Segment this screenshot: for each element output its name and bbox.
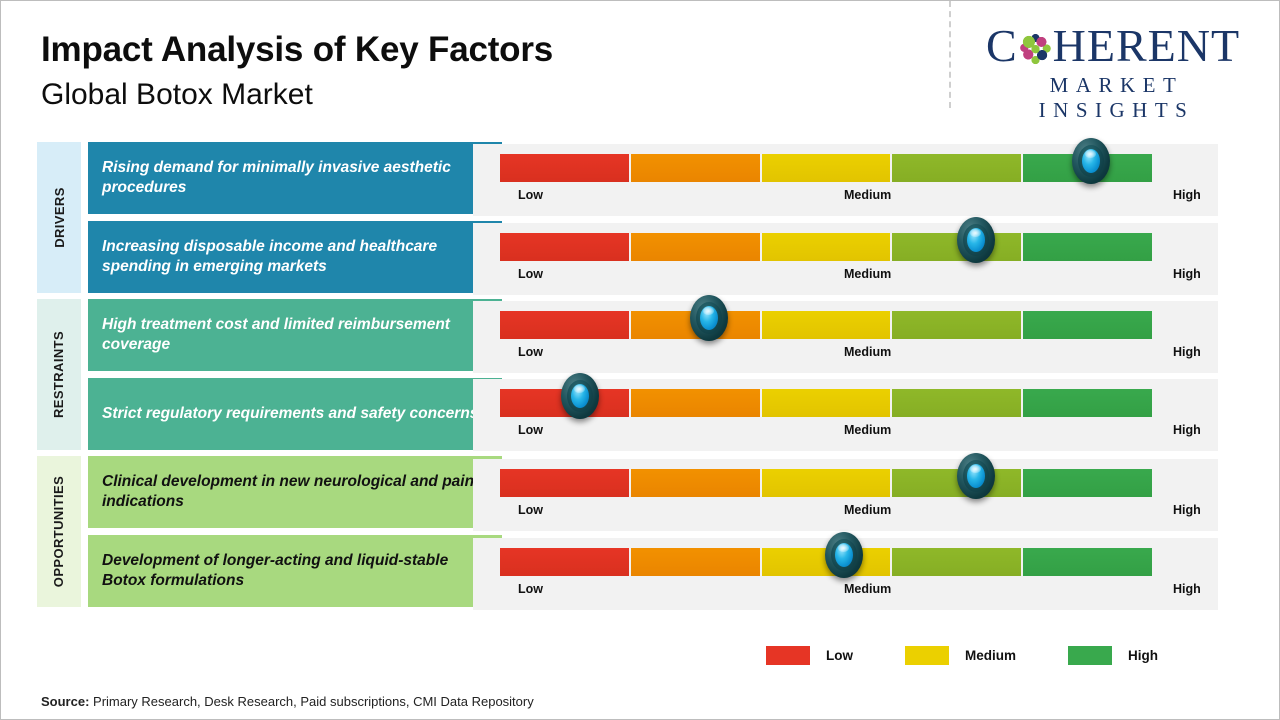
legend-swatch-medium <box>905 646 949 665</box>
category-panel-restraints: RESTRAINTS <box>37 299 81 450</box>
gauge-segment-medium <box>762 469 891 497</box>
scale-label-low: Low <box>518 503 543 517</box>
marker-gloss <box>703 307 714 315</box>
scale-label-high: High <box>1173 503 1201 517</box>
scale-label-high: High <box>1173 188 1201 202</box>
gauge-segment-high <box>1023 389 1152 417</box>
gauge-scale-labels: Low Medium High <box>500 423 1220 443</box>
gauge-scale-labels: Low Medium High <box>500 345 1220 365</box>
legend-item-low: Low <box>766 646 853 665</box>
gauge-segment-low-mid <box>631 548 760 576</box>
company-logo: C HERENT MARKET INSIGHTS <box>963 23 1263 123</box>
category-panel-drivers: DRIVERS <box>37 142 81 293</box>
gauge-segment-low-mid <box>631 233 760 261</box>
title-block: Impact Analysis of Key Factors Global Bo… <box>41 31 553 112</box>
gauge-segment-low <box>500 233 629 261</box>
scale-label-medium: Medium <box>844 188 891 202</box>
legend-swatch-low <box>766 646 810 665</box>
source-note: Source: Primary Research, Desk Research,… <box>41 694 534 709</box>
gauge-segment-mid-high <box>892 311 1021 339</box>
legend-label-high: High <box>1128 648 1158 663</box>
factor-statement: High treatment cost and limited reimburs… <box>88 299 502 371</box>
gauge-segment-low <box>500 311 629 339</box>
factor-statement: Increasing disposable income and healthc… <box>88 221 502 293</box>
marker-gloss <box>838 544 849 552</box>
gauge-segment-high <box>1023 311 1152 339</box>
gauge-segment-mid-high <box>892 548 1021 576</box>
scale-label-low: Low <box>518 582 543 596</box>
gauge-scale-labels: Low Medium High <box>500 267 1220 287</box>
gauge-segment-high <box>1023 233 1152 261</box>
gauge-segment-medium <box>762 154 891 182</box>
category-label-text: OPPORTUNITIES <box>52 476 67 587</box>
factor-statement: Rising demand for minimally invasive aes… <box>88 142 502 214</box>
scale-label-medium: Medium <box>844 423 891 437</box>
scale-label-low: Low <box>518 423 543 437</box>
header-dashed-divider <box>949 1 951 108</box>
legend-swatch-high <box>1068 646 1112 665</box>
scale-label-low: Low <box>518 267 543 281</box>
gauge-scale-labels: Low Medium High <box>500 582 1220 602</box>
scale-label-low: Low <box>518 345 543 359</box>
scale-label-low: Low <box>518 188 543 202</box>
legend-item-high: High <box>1068 646 1158 665</box>
gauge-segment-medium <box>762 233 891 261</box>
gauge-segment-mid-high <box>892 154 1021 182</box>
gauge-bar <box>500 233 1152 261</box>
gauge-segment-low-mid <box>631 469 760 497</box>
scale-label-high: High <box>1173 423 1201 437</box>
category-label-text: RESTRAINTS <box>52 331 67 418</box>
impact-gauge-row: Low Medium High <box>473 379 1218 451</box>
gauge-segment-high <box>1023 469 1152 497</box>
gauge-segment-medium <box>762 389 891 417</box>
gauge-segment-mid-high <box>892 389 1021 417</box>
gauge-segment-low-mid <box>631 389 760 417</box>
gauge-segment-low <box>500 548 629 576</box>
legend-label-medium: Medium <box>965 648 1016 663</box>
impact-gauge-row: Low Medium High <box>473 538 1218 610</box>
category-label-restraints: RESTRAINTS <box>37 299 81 450</box>
category-label-text: DRIVERS <box>52 187 67 248</box>
legend-item-medium: Medium <box>905 646 1016 665</box>
gauge-bar <box>500 469 1152 497</box>
category-label-drivers: DRIVERS <box>37 142 81 293</box>
legend: Low Medium High <box>766 646 1158 665</box>
slide-canvas: Impact Analysis of Key Factors Global Bo… <box>0 0 1280 720</box>
scale-label-high: High <box>1173 582 1201 596</box>
globe-icon <box>1019 32 1052 65</box>
category-label-opportunities: OPPORTUNITIES <box>37 456 81 607</box>
gauge-marker[interactable] <box>561 373 599 419</box>
category-panel-opportunities: OPPORTUNITIES <box>37 456 81 607</box>
scale-label-medium: Medium <box>844 503 891 517</box>
logo-wordmark: C HERENT <box>963 23 1263 69</box>
logo-tagline: MARKET INSIGHTS <box>963 73 1263 123</box>
gauge-marker[interactable] <box>957 453 995 499</box>
scale-label-high: High <box>1173 267 1201 281</box>
gauge-bar <box>500 311 1152 339</box>
logo-word-rest: HERENT <box>1053 23 1240 69</box>
impact-gauge-row: Low Medium High <box>473 223 1218 295</box>
scale-label-medium: Medium <box>844 582 891 596</box>
gauge-segment-high <box>1023 548 1152 576</box>
scale-label-high: High <box>1173 345 1201 359</box>
gauge-marker[interactable] <box>1072 138 1110 184</box>
marker-gloss <box>970 465 981 473</box>
gauge-segment-medium <box>762 311 891 339</box>
gauge-segment-low-mid <box>631 154 760 182</box>
legend-label-low: Low <box>826 648 853 663</box>
factor-statement: Strict regulatory requirements and safet… <box>88 378 502 450</box>
source-text: Primary Research, Desk Research, Paid su… <box>89 694 533 709</box>
gauge-bar <box>500 154 1152 182</box>
gauge-marker[interactable] <box>825 532 863 578</box>
gauge-marker[interactable] <box>957 217 995 263</box>
gauge-segment-low <box>500 154 629 182</box>
scale-label-medium: Medium <box>844 267 891 281</box>
page-subtitle: Global Botox Market <box>41 78 553 113</box>
marker-gloss <box>970 229 981 237</box>
marker-gloss <box>574 385 585 393</box>
scale-label-medium: Medium <box>844 345 891 359</box>
impact-gauge-row: Low Medium High <box>473 301 1218 373</box>
gauge-marker[interactable] <box>690 295 728 341</box>
factor-statement: Clinical development in new neurological… <box>88 456 502 528</box>
gauge-scale-labels: Low Medium High <box>500 503 1220 523</box>
source-label: Source: <box>41 694 89 709</box>
gauge-scale-labels: Low Medium High <box>500 188 1220 208</box>
gauge-segment-low <box>500 469 629 497</box>
factor-statement: Development of longer-acting and liquid-… <box>88 535 502 607</box>
page-title: Impact Analysis of Key Factors <box>41 31 553 70</box>
impact-gauge-row: Low Medium High <box>473 459 1218 531</box>
logo-letter-c: C <box>986 23 1018 69</box>
marker-gloss <box>1085 150 1096 158</box>
impact-gauge-row: Low Medium High <box>473 144 1218 216</box>
